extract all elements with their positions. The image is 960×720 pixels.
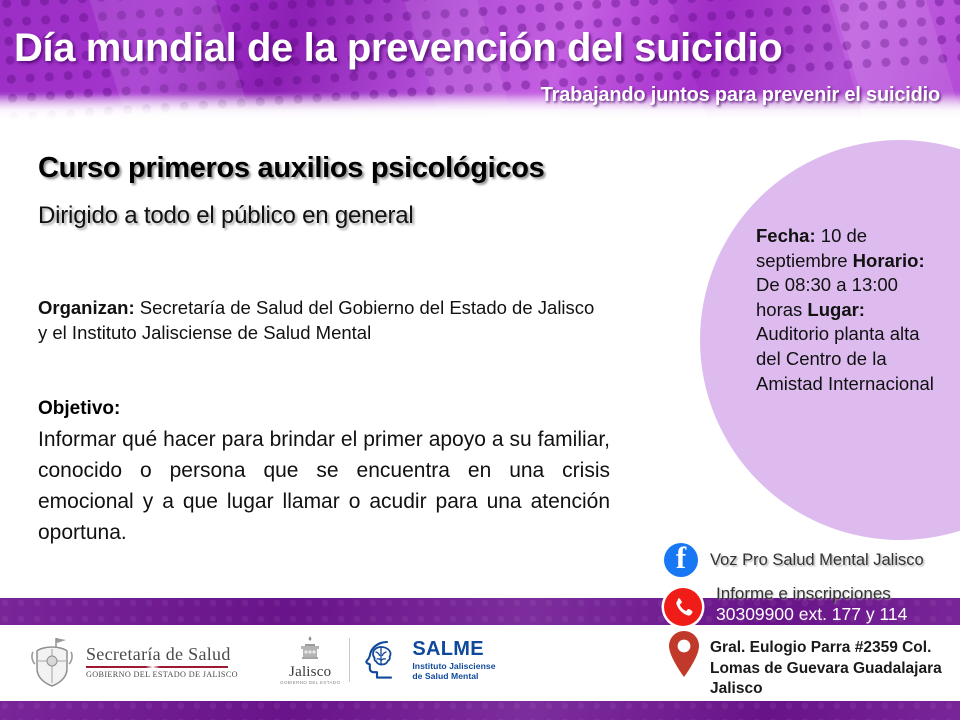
page-subtitle: Trabajando juntos para prevenir el suici… [541, 84, 940, 107]
salme-logo-group: Jalisco GOBIERNO DEL ESTADO SALME Instit… [280, 634, 496, 686]
salud-divider-rule [86, 666, 228, 668]
address-line-2: Lomas de Guevara Guadalajara Jalisco [710, 659, 960, 700]
phone-icon[interactable] [664, 588, 702, 626]
salme-wordmark: SALME [412, 639, 495, 661]
salud-subtitle: GOBIERNO DEL ESTADO DE JALISCO [86, 671, 238, 679]
fecha-label: Fecha: [756, 225, 816, 246]
organizers-block: Organizan: Secretaría de Salud del Gobie… [38, 296, 608, 346]
jalisco-coat-of-arms-icon [30, 636, 74, 688]
facebook-contact-row[interactable]: Voz Pro Salud Mental Jalisco [664, 543, 924, 577]
location-pin-icon [666, 630, 702, 678]
jalisco-wordmark: Jalisco [280, 665, 340, 680]
facebook-icon[interactable] [664, 543, 698, 577]
objective-text: Informar qué hacer para brindar el prime… [38, 425, 610, 548]
jalisco-crest-icon [295, 634, 325, 664]
head-brain-icon [359, 638, 403, 682]
salme-subtitle-line-2: de Salud Mental [412, 672, 495, 681]
facebook-page-name: Voz Pro Salud Mental Jalisco [710, 551, 924, 570]
organizers-label: Organizan: [38, 297, 135, 318]
course-title: Curso primeros auxilios psicológicos [38, 152, 545, 185]
page-title: Día mundial de la prevención del suicidi… [14, 26, 782, 71]
jalisco-subtitle: GOBIERNO DEL ESTADO [280, 681, 340, 686]
address-text: Gral. Eulogio Parra #2359 Col. Lomas de … [710, 638, 960, 700]
horario-label: Horario: [853, 250, 925, 271]
informe-label: Informe e inscripciones [716, 584, 891, 604]
salud-text-block: Secretaría de Salud GOBIERNO DEL ESTADO … [86, 645, 238, 679]
address-line-1: Gral. Eulogio Parra #2359 Col. [710, 638, 960, 659]
header-banner: Día mundial de la prevención del suicidi… [0, 0, 960, 120]
phone-number: 30309900 ext. 177 y 114 [716, 604, 907, 625]
secretaria-de-salud-logo: Secretaría de Salud GOBIERNO DEL ESTADO … [30, 636, 238, 688]
salud-title: Secretaría de Salud [86, 645, 238, 663]
band-texture-bottom [0, 701, 960, 720]
salme-text-block: SALME Instituto Jalisciense de Salud Men… [412, 639, 495, 681]
purple-band-bottom [0, 701, 960, 720]
objective-label: Objetivo: [38, 398, 120, 420]
logo-divider [349, 638, 350, 682]
poster-root: Día mundial de la prevención del suicidi… [0, 0, 960, 720]
jalisco-logo: Jalisco GOBIERNO DEL ESTADO [280, 634, 340, 686]
lugar-value: Auditorio planta alta del Centro de la A… [756, 323, 934, 393]
course-audience: Dirigido a todo el público en general [38, 202, 414, 230]
event-details-block: Fecha: 10 de septiembre Horario: De 08:3… [756, 224, 942, 396]
lugar-label: Lugar: [807, 299, 865, 320]
